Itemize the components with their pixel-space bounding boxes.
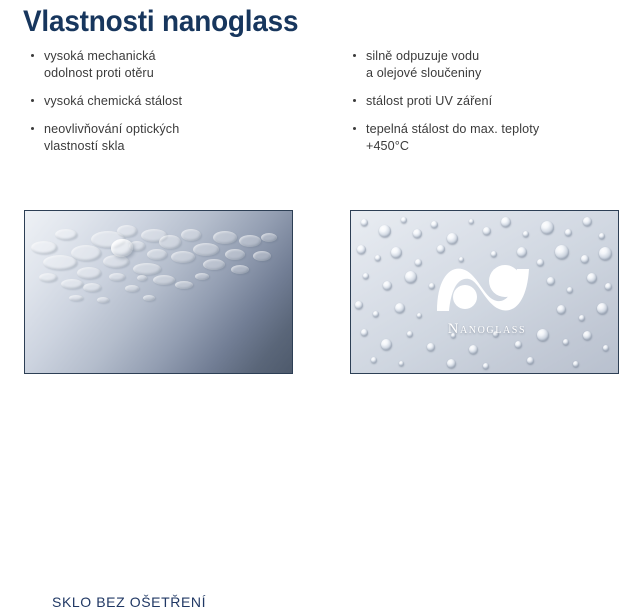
figure-caption-untreated: SKLO BEZ OŠETŘENÍ xyxy=(52,593,206,611)
feature-text: vysoká mechanická odolnost proti otěru xyxy=(44,48,330,82)
feature-text: silně odpuzuje vodu a olejové sloučeniny xyxy=(366,48,632,82)
list-item: neovlivňování optických vlastností skla xyxy=(30,121,330,155)
untreated-glass-photo xyxy=(24,210,293,374)
list-item: tepelná stálost do max. teploty +450°C xyxy=(352,121,632,155)
bullet-dot-icon xyxy=(353,99,356,102)
feature-text: neovlivňování optických vlastností skla xyxy=(44,121,330,155)
list-item: vysoká mechanická odolnost proti otěru xyxy=(30,48,330,82)
features-column-right: silně odpuzuje vodu a olejové sloučeniny… xyxy=(352,48,632,155)
figure-treated-glass: Nanoglass SKLO S TECHNOLOGIÍ xyxy=(350,210,619,374)
bullet-dot-icon xyxy=(31,99,34,102)
figure-untreated-glass: SKLO BEZ OŠETŘENÍ xyxy=(24,210,293,374)
feature-text: stálost proti UV záření xyxy=(366,93,632,110)
page-title: Vlastnosti nanoglass xyxy=(23,4,298,40)
feature-list-left: vysoká mechanická odolnost proti otěru v… xyxy=(30,48,330,155)
nanoglass-logo: Nanoglass xyxy=(423,253,551,349)
feature-text: tepelná stálost do max. teploty +450°C xyxy=(366,121,632,155)
list-item: silně odpuzuje vodu a olejové sloučeniny xyxy=(352,48,632,82)
features-column-left: vysoká mechanická odolnost proti otěru v… xyxy=(30,48,330,155)
features-section: vysoká mechanická odolnost proti otěru v… xyxy=(0,48,637,183)
bullet-dot-icon xyxy=(353,127,356,130)
bullet-dot-icon xyxy=(31,127,34,130)
slide-root: Vlastnosti nanoglass vysoká mechanická o… xyxy=(0,0,637,412)
treated-glass-photo: Nanoglass xyxy=(350,210,619,374)
bullet-dot-icon xyxy=(353,54,356,57)
list-item: stálost proti UV záření xyxy=(352,93,632,110)
feature-list-right: silně odpuzuje vodu a olejové sloučeniny… xyxy=(352,48,632,155)
nanoglass-wordmark: Nanoglass xyxy=(423,321,551,337)
feature-text: vysoká chemická stálost xyxy=(44,93,330,110)
bullet-dot-icon xyxy=(31,54,34,57)
list-item: vysoká chemická stálost xyxy=(30,93,330,110)
